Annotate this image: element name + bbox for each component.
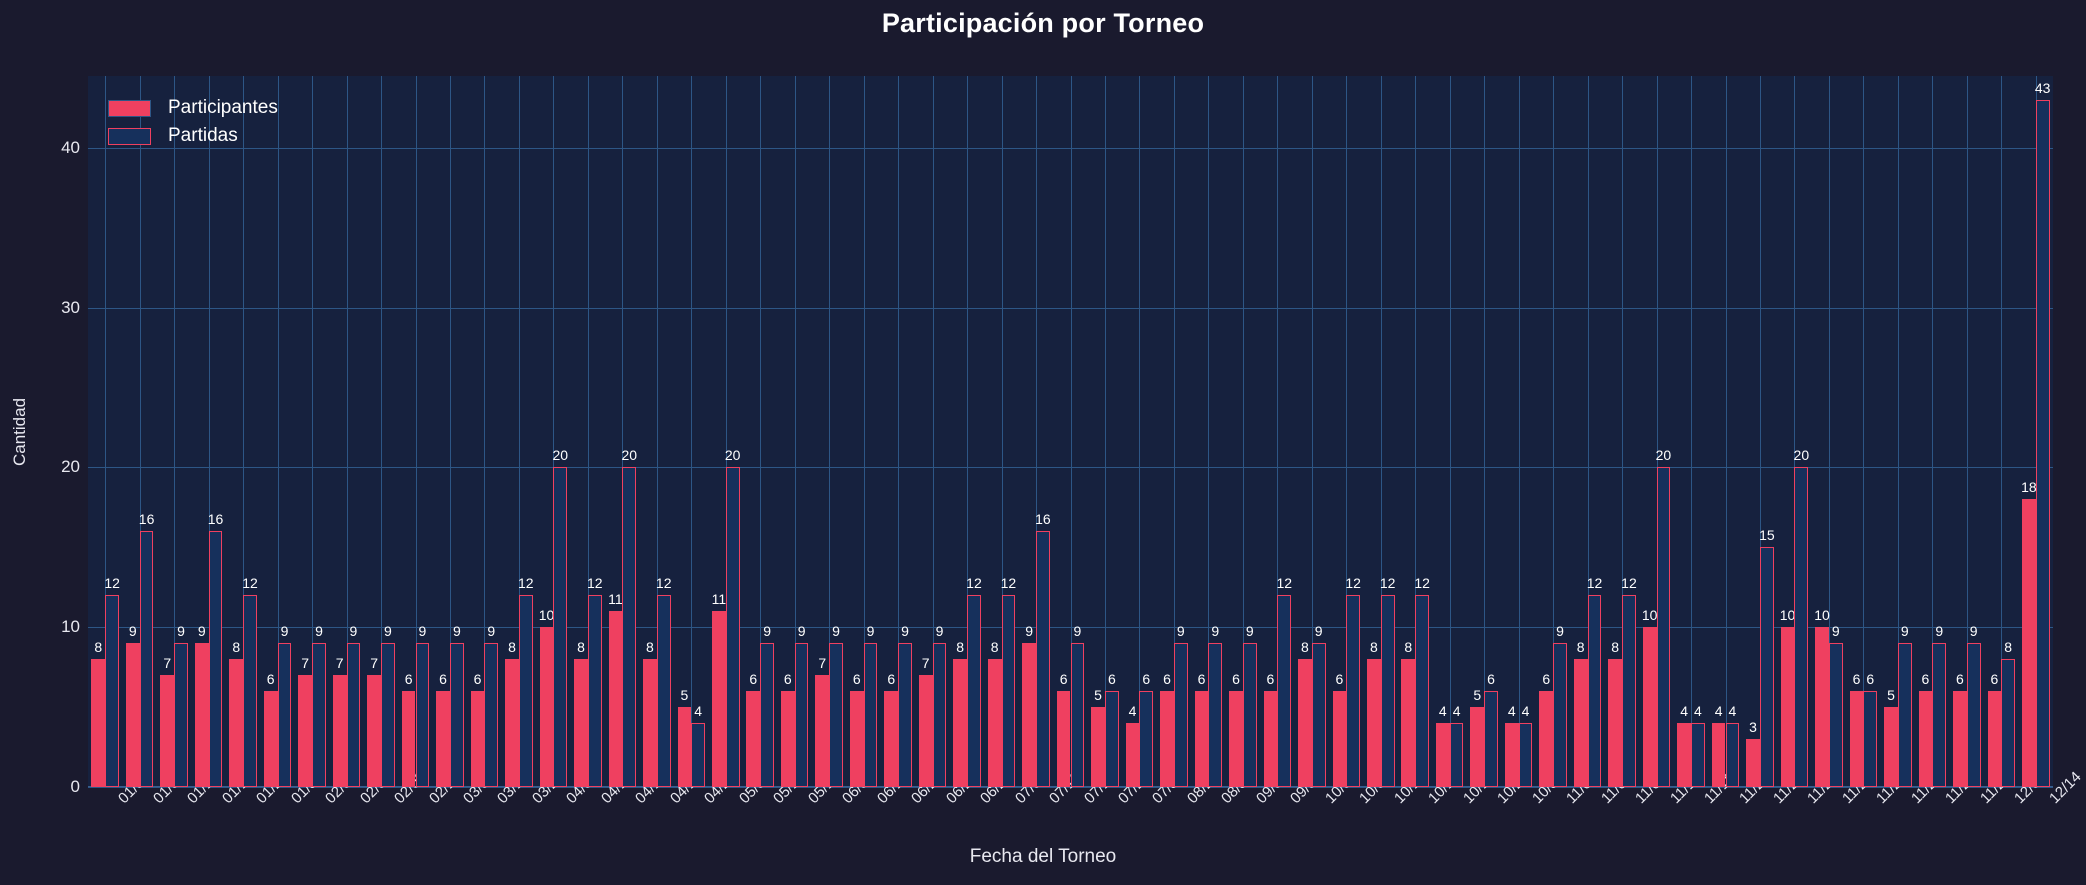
gridline-vertical [1484,76,1485,787]
bar-value-label: 12 [104,575,120,591]
bar-value-label: 6 [1267,671,1275,687]
x-tick-label: 07/10 [1046,795,1058,807]
bar-value-label: 8 [956,639,964,655]
bar-value-label: 8 [94,639,102,655]
x-tick-label: 11/27 [1908,795,1920,807]
bar-partidas[interactable] [209,531,223,787]
bar-value-label: 10 [1642,607,1658,623]
bar-participantes[interactable] [1574,659,1588,787]
bar-partidas[interactable] [1932,643,1946,787]
bar-value-label: 9 [1073,623,1081,639]
x-tick-label: 01/30 [288,795,300,807]
x-tick-label: 02/01 [322,795,334,807]
bar-value-label: 6 [749,671,757,687]
bar-value-label: 12 [587,575,603,591]
bar-partidas[interactable] [450,643,464,787]
bar-value-label: 18 [2021,479,2037,495]
bar-value-label: 12 [1621,575,1637,591]
bar-participantes[interactable] [333,675,347,787]
bar-participantes[interactable] [1850,691,1864,787]
bar-value-label: 12 [1001,575,1017,591]
bar-value-label: 9 [1935,623,1943,639]
x-tick-label: 04/12 [632,795,644,807]
bar-value-label: 5 [1473,687,1481,703]
bar-value-label: 6 [1922,671,1930,687]
x-tick-label: 09/04 [1253,795,1265,807]
bar-value-label: 8 [1404,639,1412,655]
bar-partidas[interactable] [933,643,947,787]
bar-value-label: 8 [508,639,516,655]
y-axis-title: Cantidad [10,372,30,492]
bar-value-label: 15 [1759,527,1775,543]
x-tick-label: 11/27 [1942,795,1954,807]
bar-value-label: 6 [405,671,413,687]
x-tick-label: 01/16 [219,795,231,807]
bar-value-label: 16 [139,511,155,527]
x-tick-label: 11/01 [1563,795,1575,807]
y-tick-label: 30 [10,298,80,318]
bar-value-label: 7 [163,655,171,671]
bar-value-label: 7 [370,655,378,671]
gridline-vertical [1139,76,1140,787]
bar-value-label: 9 [763,623,771,639]
bar-value-label: 8 [1577,639,1585,655]
bar-participantes[interactable] [1884,707,1898,787]
x-tick-label: 08/30 [1218,795,1230,807]
bar-value-label: 16 [208,511,224,527]
bar-participantes[interactable] [436,691,450,787]
bar-participantes[interactable] [953,659,967,787]
bar-value-label: 12 [518,575,534,591]
bar-participantes[interactable] [1712,723,1726,787]
bar-participantes[interactable] [1746,739,1760,787]
bar-value-label: 8 [1370,639,1378,655]
bar-partidas[interactable] [1243,643,1257,787]
bar-participantes[interactable] [1815,627,1829,787]
bar-participantes[interactable] [1091,707,1105,787]
bar-partidas[interactable] [1794,467,1808,787]
legend-swatch-participantes [108,100,151,117]
gridline-vertical [691,76,692,787]
bar-participantes[interactable] [815,675,829,787]
x-tick-label: 09/06 [1287,795,1299,807]
bar-participantes[interactable] [2022,499,2036,787]
bar-partidas[interactable] [795,643,809,787]
bar-partidas[interactable] [1450,723,1464,787]
x-tick-label: 08/28 [1184,795,1196,807]
x-tick-label: 01/09 [150,795,162,807]
bar-value-label: 4 [1453,703,1461,719]
bar-value-label: 12 [1587,575,1603,591]
bar-value-label: 4 [1728,703,1736,719]
x-tick-label: 10/18 [1460,795,1472,807]
bar-partidas[interactable] [1071,643,1085,787]
x-tick-label: 04/03 [563,795,575,807]
bar-participantes[interactable] [1057,691,1071,787]
bar-value-label: 6 [1142,671,1150,687]
bar-participantes[interactable] [91,659,105,787]
bar-value-label: 9 [1211,623,1219,639]
bar-partidas[interactable] [1036,531,1050,787]
bar-value-label: 6 [1335,671,1343,687]
bar-participantes[interactable] [1539,691,1553,787]
bar-partidas[interactable] [1657,467,1671,787]
x-tick-label: 04/17 [667,795,679,807]
bar-value-label: 4 [1439,703,1447,719]
y-tick-label: 40 [10,138,80,158]
bar-partidas[interactable] [1898,643,1912,787]
bar-value-label: 6 [784,671,792,687]
bar-participantes[interactable] [402,691,416,787]
x-tick-label: 07/24 [1115,795,1127,807]
gridline-vertical [1519,76,1520,787]
bar-participantes[interactable] [367,675,381,787]
bar-partidas[interactable] [1174,643,1188,787]
bar-participantes[interactable] [746,691,760,787]
bar-value-label: 6 [1853,671,1861,687]
bar-value-label: 6 [853,671,861,687]
bar-participantes[interactable] [1126,723,1140,787]
bar-participantes[interactable] [643,659,657,787]
bar-value-label: 20 [621,447,637,463]
bar-partidas[interactable] [1208,643,1222,787]
x-tick-label: 11/27 [1873,795,1885,807]
bar-participantes[interactable] [1643,627,1657,787]
x-tick-label: 02/06 [357,795,369,807]
bar-participantes[interactable] [884,691,898,787]
bar-partidas[interactable] [1967,643,1981,787]
legend-item-participantes[interactable]: Participantes [108,94,278,122]
bar-value-label: 6 [1990,671,1998,687]
bar-participantes[interactable] [1608,659,1622,787]
bar-participantes[interactable] [1505,723,1519,787]
x-tick-label: 01/11 [184,795,196,807]
bar-value-label: 12 [1380,575,1396,591]
x-tick-label: 11/15 [1701,795,1713,807]
bar-participantes[interactable] [1953,691,1967,787]
bar-partidas[interactable] [1415,595,1429,787]
bar-value-label: 6 [267,671,275,687]
x-tick-label: 01/02 [115,795,127,807]
bar-value-label: 4 [694,703,702,719]
x-tick-label: 10/11 [1391,795,1403,807]
bar-partidas[interactable] [1381,595,1395,787]
bar-value-label: 12 [1276,575,1292,591]
bar-value-label: 4 [1508,703,1516,719]
bar-value-label: 9 [281,623,289,639]
bar-value-label: 5 [680,687,688,703]
bar-value-label: 8 [1611,639,1619,655]
bar-partidas[interactable] [898,643,912,787]
bar-value-label: 6 [1108,671,1116,687]
legend-item-partidas[interactable]: Partidas [108,122,278,150]
bar-partidas[interactable] [1139,691,1153,787]
bar-partidas[interactable] [691,723,705,787]
bar-partidas[interactable] [381,643,395,787]
bar-value-label: 4 [1694,703,1702,719]
bar-participantes[interactable] [678,707,692,787]
bar-partidas[interactable] [174,643,188,787]
bar-participantes[interactable] [1919,691,1933,787]
bar-partidas[interactable] [312,643,326,787]
bar-value-label: 6 [1866,671,1874,687]
bar-partidas[interactable] [347,643,361,787]
bar-partidas[interactable] [553,467,567,787]
x-tick-label: 06/21 [908,795,920,807]
bar-value-label: 5 [1887,687,1895,703]
x-tick-label: 12/05 [2011,795,2023,807]
bar-value-label: 10 [539,607,555,623]
bar-participantes[interactable] [195,643,209,787]
bar-value-label: 9 [798,623,806,639]
bar-participantes[interactable] [298,675,312,787]
x-axis-title: Fecha del Torneo [0,846,2086,868]
gridline-vertical [1691,76,1692,787]
bar-partidas[interactable] [1346,595,1360,787]
bar-value-label: 6 [1542,671,1550,687]
bar-value-label: 9 [832,623,840,639]
chart-title: Participación por Torneo [0,8,2086,39]
bar-participantes[interactable] [1229,691,1243,787]
bar-partidas[interactable] [1863,691,1877,787]
x-tick-label: 05/03 [736,795,748,807]
bar-partidas[interactable] [1105,691,1119,787]
bar-partidas[interactable] [2001,659,2015,787]
bar-partidas[interactable] [1484,691,1498,787]
bar-value-label: 6 [1060,671,1068,687]
bar-partidas[interactable] [519,595,533,787]
bar-value-label: 9 [867,623,875,639]
x-tick-label: 06/28 [977,795,989,807]
x-tick-label: 02/13 [426,795,438,807]
x-tick-label: 11/15 [1667,795,1679,807]
bar-partidas[interactable] [1829,643,1843,787]
bar-value-label: 9 [1556,623,1564,639]
x-tick-label: 10/02 [1322,795,1334,807]
bar-partidas[interactable] [105,595,119,787]
bar-value-label: 8 [2004,639,2012,655]
x-tick-label: 10/16 [1425,795,1437,807]
x-tick-label: 03/01 [460,795,472,807]
bar-value-label: 4 [1715,703,1723,719]
bar-partidas[interactable] [243,595,257,787]
x-tick-label: 05/17 [805,795,817,807]
x-tick-label: 11/27 [1770,795,1782,807]
bar-value-label: 8 [1301,639,1309,655]
bar-participantes[interactable] [1677,723,1691,787]
bar-value-label: 9 [384,623,392,639]
bar-value-label: 9 [1177,623,1185,639]
bar-value-label: 6 [1163,671,1171,687]
bar-partidas[interactable] [1002,595,1016,787]
bar-participantes[interactable] [781,691,795,787]
bar-value-label: 10 [1814,607,1830,623]
bar-value-label: 9 [1315,623,1323,639]
bar-value-label: 12 [1414,575,1430,591]
bar-value-label: 9 [901,623,909,639]
x-tick-label: 06/12 [874,795,886,807]
bar-partidas[interactable] [278,643,292,787]
bar-participantes[interactable] [1781,627,1795,787]
bar-value-label: 10 [1780,607,1796,623]
y-tick-label: 10 [10,617,80,637]
bar-participantes[interactable] [1298,659,1312,787]
gridline-vertical [1726,76,1727,787]
chart-root: Participación por Torneo 010203040 Canti… [0,0,2086,885]
bar-participantes[interactable] [1022,643,1036,787]
bar-participantes[interactable] [1195,691,1209,787]
x-tick-label: 11/27 [1839,795,1851,807]
bar-value-label: 7 [922,655,930,671]
bar-participantes[interactable] [264,691,278,787]
bar-participantes[interactable] [1401,659,1415,787]
x-tick-label: 03/15 [494,795,506,807]
bar-value-label: 9 [1970,623,1978,639]
bar-partidas[interactable] [1312,643,1326,787]
bar-partidas[interactable] [864,643,878,787]
bar-value-label: 8 [232,639,240,655]
x-tick-label: 05/10 [770,795,782,807]
bar-participantes[interactable] [1160,691,1174,787]
bar-value-label: 6 [887,671,895,687]
legend-label-partidas: Partidas [168,125,238,147]
x-tick-label: 02/08 [391,795,403,807]
bar-value-label: 9 [315,623,323,639]
x-tick-label: 11/27 [1736,795,1748,807]
bar-participantes[interactable] [609,611,623,787]
bar-value-label: 9 [129,623,137,639]
bar-value-label: 6 [474,671,482,687]
bar-partidas[interactable] [588,595,602,787]
x-tick-label: 07/17 [1081,795,1093,807]
bar-participantes[interactable] [540,627,554,787]
bar-participantes[interactable] [1436,723,1450,787]
x-tick-label: 04/10 [598,795,610,807]
bar-value-label: 9 [177,623,185,639]
legend-label-participantes: Participantes [168,97,278,119]
bar-partidas[interactable] [416,643,430,787]
bar-participantes[interactable] [1988,691,2002,787]
bar-value-label: 9 [418,623,426,639]
bar-partidas[interactable] [967,595,981,787]
bar-participantes[interactable] [574,659,588,787]
bar-value-label: 3 [1749,719,1757,735]
bar-value-label: 7 [818,655,826,671]
x-tick-label: 10/04 [1356,795,1368,807]
bar-value-label: 8 [646,639,654,655]
bar-partidas[interactable] [1519,723,1533,787]
bar-participantes[interactable] [229,659,243,787]
bar-partidas[interactable] [1588,595,1602,787]
bar-value-label: 20 [552,447,568,463]
x-tick-label: 11/27 [1804,795,1816,807]
bar-partidas[interactable] [1622,595,1636,787]
bar-participantes[interactable] [1333,691,1347,787]
bar-partidas[interactable] [140,531,154,787]
x-tick-label: 06/26 [943,795,955,807]
bar-participantes[interactable] [850,691,864,787]
bar-value-label: 12 [242,575,258,591]
x-tick-label: 01/23 [253,795,265,807]
x-tick-label: 07/31 [1149,795,1161,807]
bar-value-label: 6 [1198,671,1206,687]
bar-value-label: 11 [608,591,623,607]
bar-value-label: 9 [1246,623,1254,639]
bar-value-label: 7 [336,655,344,671]
bar-partidas[interactable] [2036,100,2050,787]
bar-participantes[interactable] [1264,691,1278,787]
bar-value-label: 9 [1025,623,1033,639]
bar-participantes[interactable] [160,675,174,787]
bar-partidas[interactable] [1277,595,1291,787]
bar-value-label: 12 [656,575,672,591]
bar-value-label: 11 [712,591,727,607]
bar-participantes[interactable] [505,659,519,787]
bar-participantes[interactable] [712,611,726,787]
x-tick-label: 12/14 [2046,795,2058,807]
bar-value-label: 8 [991,639,999,655]
bar-partidas[interactable] [1553,643,1567,787]
x-tick-label: 10/23 [1494,795,1506,807]
bar-value-label: 12 [966,575,982,591]
bar-partidas[interactable] [1691,723,1705,787]
bar-partidas[interactable] [1760,547,1774,787]
bar-partidas[interactable] [1726,723,1740,787]
bar-participantes[interactable] [1367,659,1381,787]
bar-value-label: 4 [1129,703,1137,719]
bar-participantes[interactable] [1470,707,1484,787]
x-tick-label: 11/08 [1632,795,1644,807]
chart-legend: Participantes Partidas [102,90,286,156]
bar-participantes[interactable] [919,675,933,787]
bar-value-label: 6 [1487,671,1495,687]
bar-value-label: 20 [725,447,741,463]
bar-participantes[interactable] [471,691,485,787]
bar-value-label: 43 [2035,80,2051,96]
x-tick-label: 11/06 [1598,795,1610,807]
x-tick-label: 04/26 [701,795,713,807]
bar-participantes[interactable] [988,659,1002,787]
bar-value-label: 6 [1232,671,1240,687]
x-tick-label: 06/07 [839,795,851,807]
bar-partidas[interactable] [829,643,843,787]
bar-value-label: 20 [1794,447,1810,463]
x-tick-label: 03/29 [529,795,541,807]
bar-partidas[interactable] [484,643,498,787]
bar-value-label: 12 [1345,575,1361,591]
bar-value-label: 20 [1656,447,1672,463]
y-tick-label: 0 [10,777,80,797]
bar-participantes[interactable] [126,643,140,787]
bar-partidas[interactable] [726,467,740,787]
bar-value-label: 9 [1901,623,1909,639]
legend-swatch-partidas [108,128,151,145]
x-tick-label: 07/03 [1012,795,1024,807]
bar-value-label: 9 [487,623,495,639]
bar-value-label: 6 [1956,671,1964,687]
bar-value-label: 5 [1094,687,1102,703]
gridline-vertical [1450,76,1451,787]
bar-partidas[interactable] [657,595,671,787]
x-tick-label: 10/30 [1529,795,1541,807]
gridline-vertical [1863,76,1864,787]
bar-value-label: 16 [1035,511,1051,527]
bar-partidas[interactable] [622,467,636,787]
bar-value-label: 9 [936,623,944,639]
bar-partidas[interactable] [760,643,774,787]
bar-value-label: 9 [350,623,358,639]
gridline-vertical [1105,76,1106,787]
